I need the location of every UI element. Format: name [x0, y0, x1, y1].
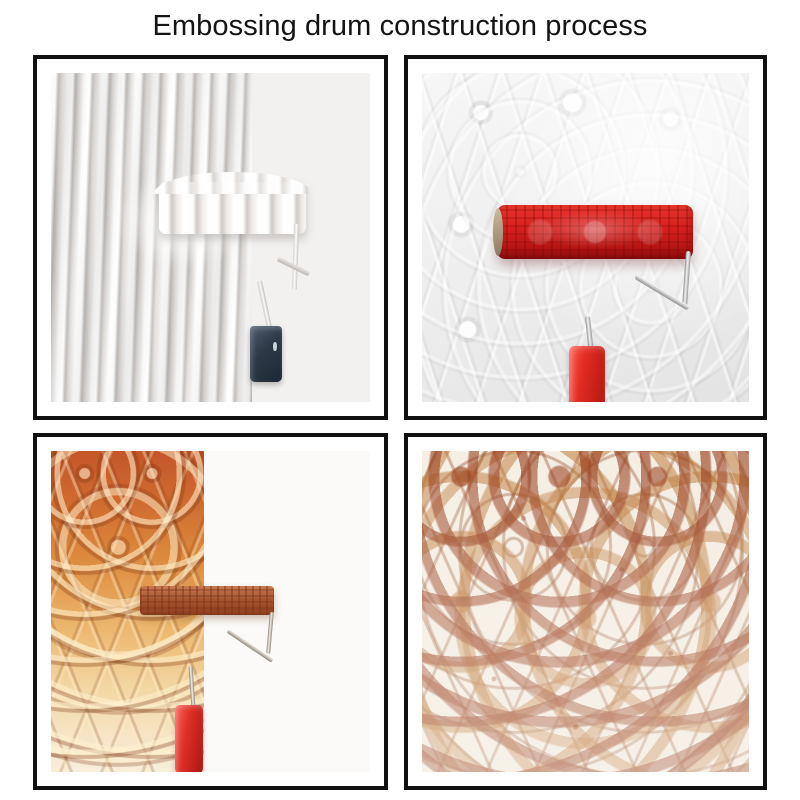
- process-step-grid: Textured white plaster wall with vertica…: [33, 55, 767, 790]
- process-step-panel-1: Textured white plaster wall with vertica…: [33, 55, 388, 420]
- copper-embossing-drum: [140, 586, 274, 615]
- roller-handle-navy: [250, 326, 282, 382]
- process-step-panel-3: Orange to cream gradient damask pattern …: [33, 433, 388, 790]
- damask-speckle-detail: [422, 451, 749, 772]
- roller-frame-segment-upper: [292, 224, 299, 290]
- roller-frame-segment-upper: [266, 611, 274, 653]
- photo-orange-gradient-damask: Orange to cream gradient damask pattern …: [51, 451, 370, 772]
- roller-handle-red: [569, 346, 605, 402]
- roller-handle-red: [175, 705, 202, 772]
- process-step-panel-4: Finished rust and copper damask pattern …: [404, 433, 767, 790]
- red-embossing-drum: [497, 205, 693, 259]
- photo-finished-damask-wall: Finished rust and copper damask pattern …: [422, 451, 749, 772]
- photo-white-plaster-texture: Textured white plaster wall with vertica…: [51, 73, 370, 402]
- photo-red-embossing-roller: Red patterned embossing drum roller pres…: [422, 73, 749, 402]
- page-title: Embossing drum construction process: [0, 8, 800, 44]
- roller-frame-segment-lower: [256, 280, 271, 329]
- process-step-panel-2: Red patterned embossing drum roller pres…: [404, 55, 767, 420]
- plaster-roller-drum: [159, 182, 306, 235]
- product-image: Embossing drum construction process Text…: [0, 0, 800, 800]
